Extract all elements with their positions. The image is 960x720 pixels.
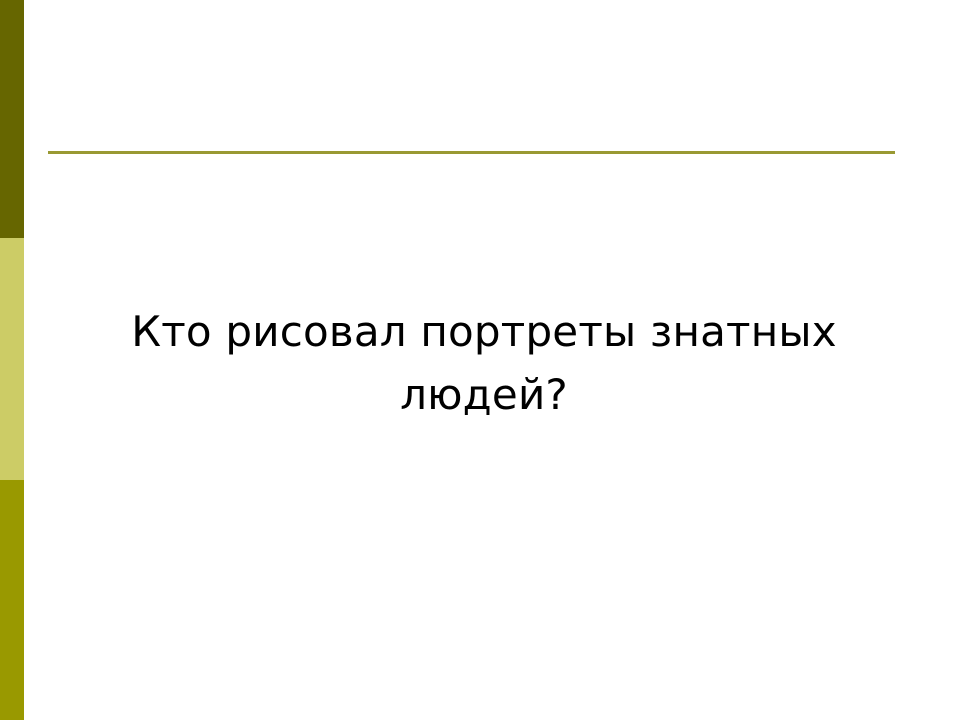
slide-canvas: Кто рисовал портреты знатных людей? (0, 0, 960, 720)
slide-body-placeholder[interactable]: Кто рисовал портреты знатных людей? (48, 300, 920, 450)
sidebar-band-light-olive (0, 238, 24, 480)
slide-body-text: Кто рисовал портреты знатных людей? (48, 300, 920, 426)
slide-title-placeholder[interactable] (48, 40, 895, 146)
sidebar-band-dark-olive (0, 0, 24, 238)
sidebar-decoration (0, 0, 24, 720)
slide-lower-empty-region (48, 470, 920, 700)
title-divider-rule (48, 151, 895, 154)
sidebar-band-mid-olive (0, 480, 24, 720)
